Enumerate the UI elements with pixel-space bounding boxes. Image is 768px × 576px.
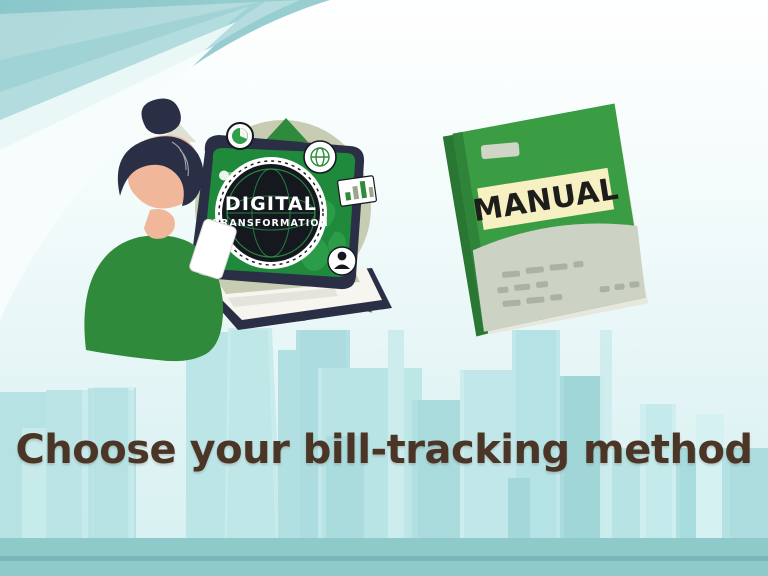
page-title: Choose your bill-tracking method: [0, 427, 768, 473]
manual-book-illustration: MANUAL: [0, 0, 768, 576]
banner-canvas: DIGITAL TRANSFORMATION: [0, 0, 768, 576]
